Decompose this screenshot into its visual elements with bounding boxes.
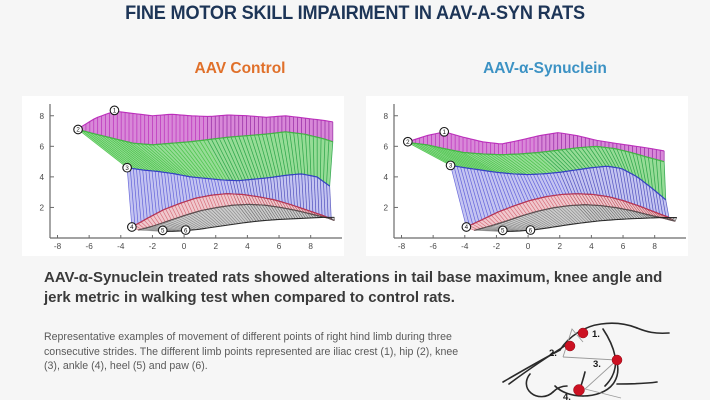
svg-text:-6: -6 (86, 242, 94, 251)
svg-text:6: 6 (383, 143, 388, 152)
svg-text:5: 5 (501, 228, 505, 235)
limb-point-3-knee (612, 355, 622, 365)
chart-marker-5: 5 (158, 226, 167, 235)
svg-text:3: 3 (125, 165, 129, 172)
svg-text:-6: -6 (430, 242, 438, 251)
chart-marker-6: 6 (526, 226, 535, 235)
svg-text:1: 1 (442, 129, 446, 136)
chart-marker-3: 3 (446, 161, 455, 170)
chart-panel-aav-a-synuclein: -8-6-4-2024682468123456 (366, 96, 688, 256)
chart-panel-aav-control: -8-6-4-2024682468123456 (22, 96, 344, 256)
chart-marker-6: 6 (181, 226, 190, 235)
svg-text:4: 4 (589, 242, 594, 251)
summary-text: AAV-α-Synuclein treated rats showed alte… (44, 268, 668, 308)
svg-text:4: 4 (130, 224, 134, 231)
limb-point-2-hip (565, 341, 575, 351)
limb-label-1: 1. (592, 329, 600, 340)
limb-label-2: 2. (549, 348, 557, 359)
panel-title-right: AAV-α-Synuclein (420, 60, 670, 78)
svg-text:2: 2 (213, 242, 218, 251)
figure-caption: Representative examples of movement of d… (44, 330, 464, 374)
chart-marker-5: 5 (498, 226, 507, 235)
svg-text:6: 6 (621, 242, 626, 251)
slide-root: FINE MOTOR SKILL IMPAIRMENT IN AAV-A-SYN… (0, 0, 710, 400)
svg-text:2: 2 (406, 139, 410, 146)
svg-text:4: 4 (465, 224, 469, 231)
chart-marker-4: 4 (128, 223, 137, 232)
svg-text:6: 6 (529, 227, 533, 234)
limb-label-4: 4. (563, 392, 571, 400)
svg-text:-4: -4 (117, 242, 125, 251)
svg-text:2: 2 (557, 242, 562, 251)
panel-title-left: AAV Control (130, 60, 350, 78)
svg-text:8: 8 (383, 112, 388, 121)
svg-text:8: 8 (652, 242, 657, 251)
rat-limb-svg: 1. 2. 3. 4. (497, 312, 710, 400)
svg-text:8: 8 (39, 112, 44, 121)
svg-text:0: 0 (182, 242, 187, 251)
svg-text:-2: -2 (149, 242, 157, 251)
chart-marker-2: 2 (74, 125, 83, 134)
svg-text:1: 1 (113, 108, 117, 115)
svg-text:4: 4 (245, 242, 250, 251)
limb-point-1-iliac-crest (578, 328, 588, 338)
svg-text:4: 4 (383, 173, 388, 182)
svg-text:6: 6 (184, 227, 188, 234)
svg-text:-2: -2 (493, 242, 501, 251)
chart-marker-3: 3 (123, 163, 132, 172)
svg-text:-8: -8 (54, 242, 62, 251)
svg-text:3: 3 (449, 163, 453, 170)
gait-plot-left: -8-6-4-2024682468123456 (22, 96, 344, 256)
svg-text:4: 4 (39, 173, 44, 182)
chart-marker-1: 1 (110, 106, 119, 115)
chart-marker-1: 1 (440, 127, 449, 136)
svg-text:0: 0 (526, 242, 531, 251)
rat-limb-diagram: 1. 2. 3. 4. (497, 312, 710, 400)
svg-text:2: 2 (39, 204, 44, 213)
page-title: FINE MOTOR SKILL IMPAIRMENT IN AAV-A-SYN… (25, 2, 685, 25)
svg-text:2: 2 (383, 204, 388, 213)
chart-marker-4: 4 (462, 223, 471, 232)
svg-text:8: 8 (308, 242, 313, 251)
svg-text:6: 6 (39, 143, 44, 152)
svg-text:-4: -4 (461, 242, 469, 251)
chart-marker-2: 2 (404, 137, 413, 146)
limb-label-3: 3. (593, 359, 601, 370)
svg-text:2: 2 (76, 127, 80, 134)
svg-text:5: 5 (161, 228, 165, 235)
svg-text:-8: -8 (398, 242, 406, 251)
gait-plot-right: -8-6-4-2024682468123456 (366, 96, 688, 256)
svg-text:6: 6 (277, 242, 282, 251)
limb-point-4-ankle (574, 385, 585, 396)
